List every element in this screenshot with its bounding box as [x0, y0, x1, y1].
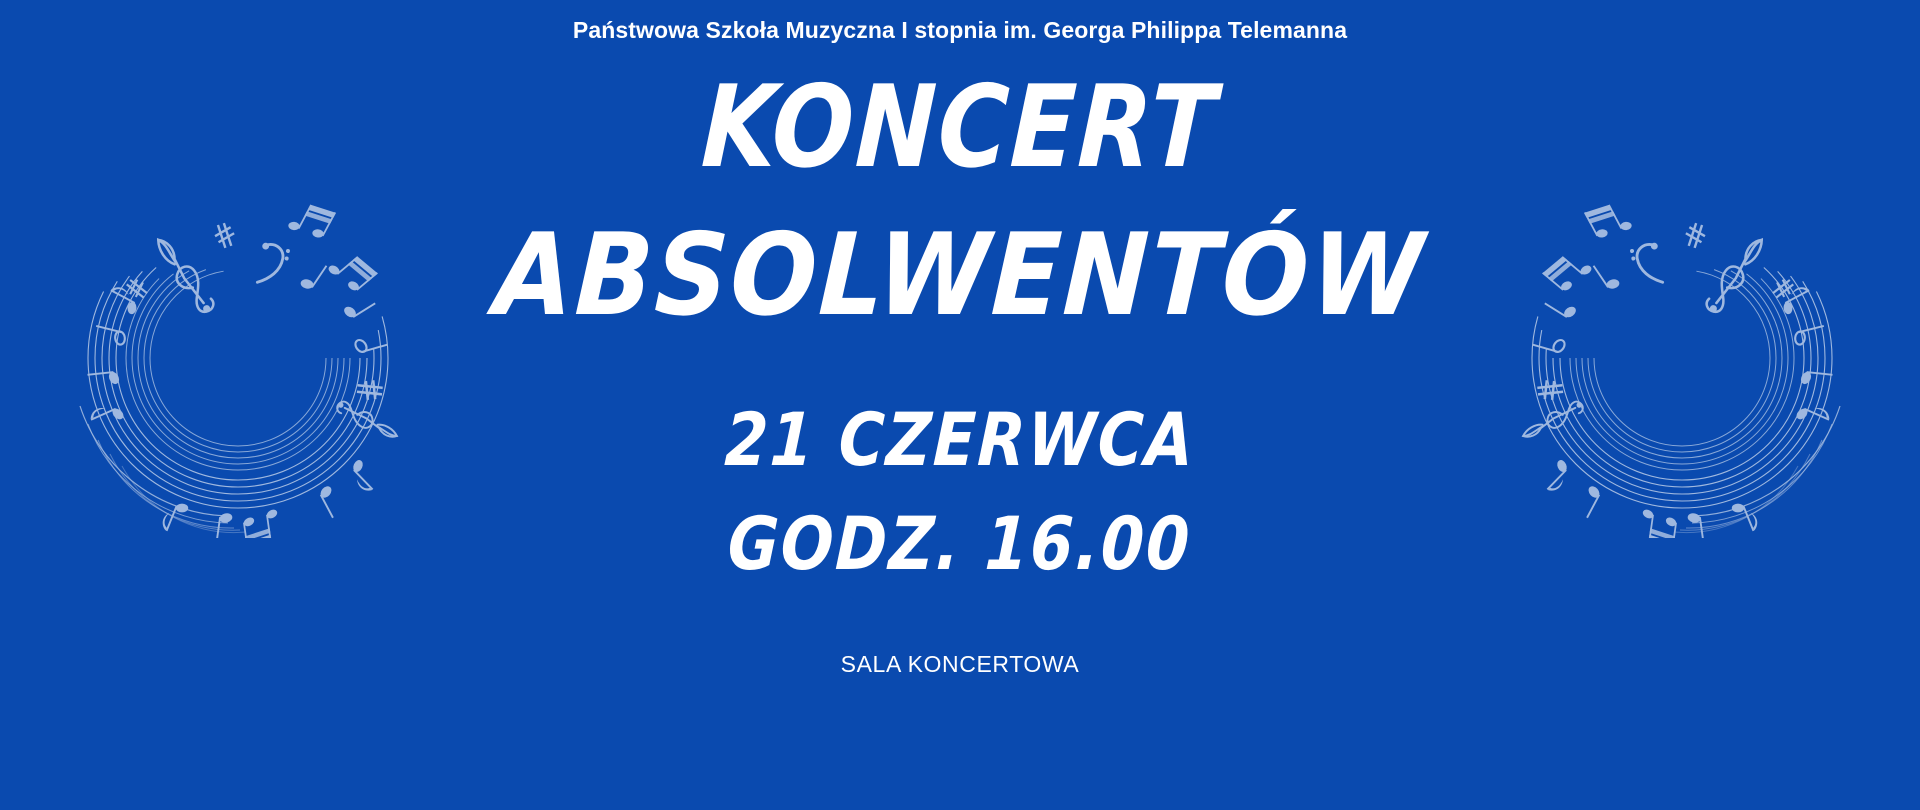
poster-title-line-1: KONCERT: [700, 70, 1220, 183]
event-venue: SALA KONCERTOWA: [841, 651, 1080, 678]
event-date: 21 CZERWCA: [723, 403, 1197, 476]
school-name: Państwowa Szkoła Muzyczna I stopnia im. …: [573, 17, 1347, 45]
poster-content: Państwowa Szkoła Muzyczna I stopnia im. …: [0, 0, 1920, 810]
concert-poster: Państwowa Szkoła Muzyczna I stopnia im. …: [0, 0, 1920, 810]
poster-title-line-2: ABSOLWENTÓW: [492, 218, 1428, 331]
event-time: GODZ. 16.00: [727, 507, 1194, 580]
